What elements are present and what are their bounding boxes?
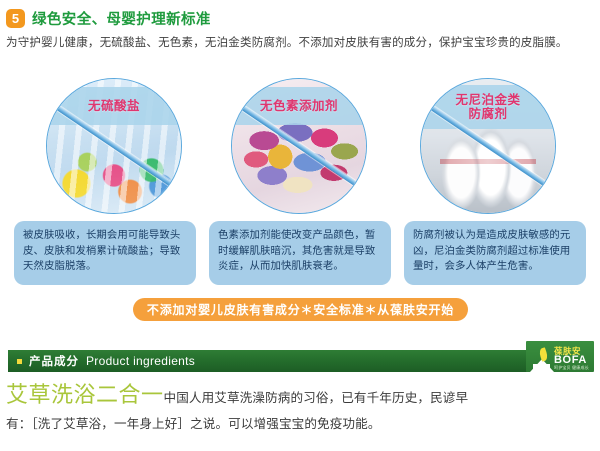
bottom-body-line-2: 有：［洗了艾草浴，一年身上好］之说。可以增强宝宝的免疫功能。 (6, 411, 596, 437)
circle-label-band: 无尼泊金类 防腐剂 (421, 85, 555, 129)
lead-paragraph: 为守护婴儿健康，无硫酸盐、无色素，无泊金类防腐剂。不添加对皮肤有害的成分，保护宝… (6, 33, 594, 51)
circle-label-line-1: 无尼泊金类 (455, 92, 520, 107)
product-feature-page: 5 绿色安全、母婴护理新标准 为守护婴儿健康，无硫酸盐、无色素，无泊金类防腐剂。… (0, 0, 600, 451)
circle-label-text: 无色素添加剂 (260, 99, 338, 113)
section-bar-title-cn: 产品成分 (29, 353, 79, 369)
section-bar-product-ingredients: 产品成分 Product ingredients (8, 350, 592, 372)
section-bar-title-en: Product ingredients (86, 354, 195, 368)
feature-caption-row: 被皮肤吸收，长期会用可能导致头皮、皮肤和发梢累计硫酸盐；导致天然皮脂脱落。 色素… (0, 221, 600, 291)
section-number-badge: 5 (6, 9, 25, 28)
brand-logo: 葆肤安 BOFA 呵护宝贝 健康成长 (526, 341, 594, 372)
bottom-copy: 艾草洗浴二合一中国人用艾草洗澡防病的习俗，已有千年历史，民谚早 有：［洗了艾草浴… (6, 381, 596, 437)
circle-clip: 无色素添加剂 (232, 79, 366, 213)
circle-label-line-2: 防腐剂 (468, 106, 507, 121)
feature-circle-row: 无硫酸盐 无色素添加剂 (0, 78, 600, 218)
circle-label-band: 无硫酸盐 (47, 87, 181, 125)
circle-clip: 无硫酸盐 (47, 79, 181, 213)
feature-circle-3: 无尼泊金类 防腐剂 (420, 78, 560, 216)
feature-circle-2: 无色素添加剂 (231, 78, 371, 216)
bottom-body-line-1: 中国人用艾草洗澡防病的习俗，已有千年历史，民谚早 (164, 390, 469, 405)
bottom-title: 艾草洗浴二合一 (6, 383, 164, 408)
circle-frame: 无色素添加剂 (231, 78, 367, 214)
feature-circle-1: 无硫酸盐 (46, 78, 186, 216)
circle-frame: 无硫酸盐 (46, 78, 182, 214)
feature-caption-1: 被皮肤吸收，长期会用可能导致头皮、皮肤和发梢累计硫酸盐；导致天然皮脂脱落。 (14, 221, 196, 285)
circle-frame: 无尼泊金类 防腐剂 (420, 78, 556, 214)
square-bullet-icon (17, 359, 22, 364)
feature-caption-2: 色素添加剂能使改变产品颜色，暂时缓解肌肤暗沉，其危害就是导致炎症，从而加快肌肤衰… (209, 221, 391, 285)
circle-clip: 无尼泊金类 防腐剂 (421, 79, 555, 213)
circle-label-text: 无硫酸盐 (88, 99, 140, 113)
feature-caption-3: 防腐剂被认为是造成皮肤敏感的元凶，尼泊金类防腐剂超过标准使用量时，会多人体产生危… (404, 221, 586, 285)
logo-tagline: 呵护宝贝 健康成长 (554, 365, 589, 371)
circle-label-band: 无色素添加剂 (232, 87, 366, 125)
page-title: 绿色安全、母婴护理新标准 (32, 8, 211, 29)
circle-label-text: 无尼泊金类 防腐剂 (455, 93, 520, 121)
safety-banner: 不添加对婴儿皮肤有害成分＊安全标准＊从葆肤安开始 (133, 298, 468, 321)
section-header: 5 绿色安全、母婴护理新标准 (6, 8, 211, 29)
house-body-icon (533, 364, 550, 372)
